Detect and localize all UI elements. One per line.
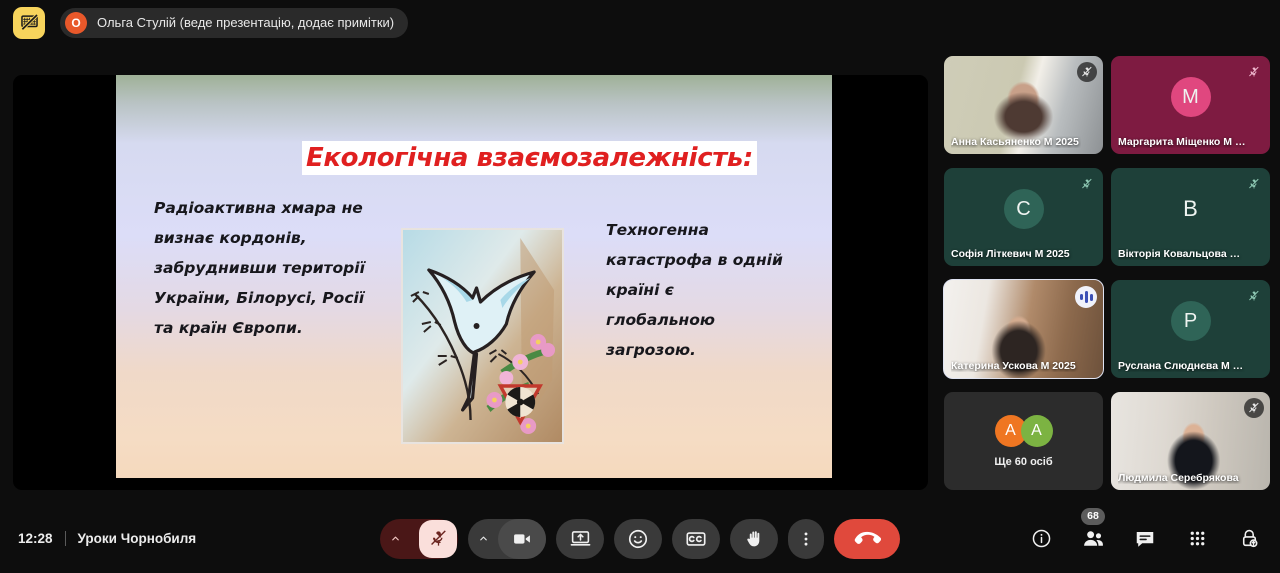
participant-name: Софія Літкевич М 2025: [951, 248, 1081, 260]
raise-hand-button[interactable]: [730, 519, 778, 559]
avatar: М: [1171, 77, 1211, 117]
meeting-meta: 12:28 Уроки Чорнобиля: [18, 531, 196, 546]
overflow-avatar: А: [1021, 415, 1053, 447]
present-screen-button[interactable]: [556, 519, 604, 559]
mic-options-chevron-up-icon[interactable]: [380, 519, 410, 559]
meeting-name: Уроки Чорнобиля: [78, 531, 197, 546]
participant-name: Руслана Слюднєва М 20…: [1118, 360, 1248, 372]
slide-title: Екологічна взаємозалежність:: [302, 141, 757, 175]
meeting-details-button[interactable]: [1026, 524, 1056, 554]
participant-name: Анна Касьяненко М 2025: [951, 136, 1081, 148]
avatar: Р: [1171, 301, 1211, 341]
participants-count-badge: 68: [1081, 508, 1105, 525]
avatar: С: [1004, 189, 1044, 229]
participant-name: Катерина Ускова М 2025: [951, 360, 1081, 372]
participant-name: Вікторія Ковальцова М 2…: [1118, 248, 1248, 260]
presenter-chip[interactable]: О Ольга Стулій (веде презентацію, додає …: [60, 8, 408, 38]
participant-tile[interactable]: С Софія Літкевич М 2025: [944, 168, 1103, 266]
bottom-bar: 12:28 Уроки Чорнобиля: [0, 504, 1280, 573]
reactions-button[interactable]: [614, 519, 662, 559]
top-bar: О Ольга Стулій (веде презентацію, додає …: [0, 0, 1280, 45]
mic-off-icon: [1244, 174, 1264, 194]
captions-button[interactable]: [672, 519, 720, 559]
mic-off-icon: [1244, 62, 1264, 82]
overflow-avatars: А А: [995, 415, 1053, 447]
screen-share-off-icon[interactable]: [13, 7, 45, 39]
mic-off-icon: [1077, 174, 1097, 194]
camera-options-chevron-up-icon[interactable]: [468, 519, 498, 559]
participant-tile[interactable]: В Вікторія Ковальцова М 2…: [1111, 168, 1270, 266]
more-participants-label: Ще 60 осіб: [944, 456, 1103, 468]
avatar: В: [1183, 196, 1198, 222]
secondary-controls: 68: [1026, 524, 1264, 554]
mic-off-icon: [1244, 286, 1264, 306]
mic-off-icon: [1244, 398, 1264, 418]
participants-button[interactable]: 68: [1078, 524, 1108, 554]
participant-tile[interactable]: М Маргарита Міщенко М 2…: [1111, 56, 1270, 154]
clock: 12:28: [18, 531, 53, 546]
presenter-avatar: О: [65, 12, 87, 34]
slide-body-right: Техногенна катастрофа в одній країні є г…: [606, 215, 786, 365]
meta-divider: [65, 531, 66, 546]
call-controls: [380, 519, 900, 559]
host-controls-button[interactable]: [1234, 524, 1264, 554]
presentation-stage[interactable]: Екологічна взаємозалежність: Радіоактивн…: [13, 75, 928, 490]
camera-icon[interactable]: [498, 519, 546, 559]
microphone-button[interactable]: [380, 519, 458, 559]
participant-tile[interactable]: Анна Касьяненко М 2025: [944, 56, 1103, 154]
more-participants-tile[interactable]: А А Ще 60 осіб: [944, 392, 1103, 490]
slide: Екологічна взаємозалежність: Радіоактивн…: [116, 75, 832, 478]
participant-tile-active-speaker[interactable]: Катерина Ускова М 2025: [944, 280, 1103, 378]
participant-grid: Анна Касьяненко М 2025 М Маргарита Міщен…: [944, 56, 1280, 504]
more-options-button[interactable]: [788, 519, 824, 559]
activities-button[interactable]: [1182, 524, 1212, 554]
meeting-window: О Ольга Стулій (веде презентацію, додає …: [0, 0, 1280, 573]
mic-off-icon[interactable]: [419, 520, 457, 558]
camera-button[interactable]: [468, 519, 546, 559]
participant-tile[interactable]: Р Руслана Слюднєва М 20…: [1111, 280, 1270, 378]
presenter-name: Ольга Стулій (веде презентацію, додає пр…: [97, 15, 394, 30]
slide-body-left: Радіоактивна хмара не визнає кордонів, з…: [154, 193, 379, 343]
leave-call-button[interactable]: [834, 519, 900, 559]
audio-level-icon: [1075, 286, 1097, 308]
chat-button[interactable]: [1130, 524, 1160, 554]
slide-artwork-image: [401, 228, 564, 444]
participant-tile[interactable]: Людмила Серебрякова: [1111, 392, 1270, 490]
participant-name: Маргарита Міщенко М 2…: [1118, 136, 1248, 148]
participant-name: Людмила Серебрякова: [1118, 472, 1248, 484]
mic-off-icon: [1077, 62, 1097, 82]
